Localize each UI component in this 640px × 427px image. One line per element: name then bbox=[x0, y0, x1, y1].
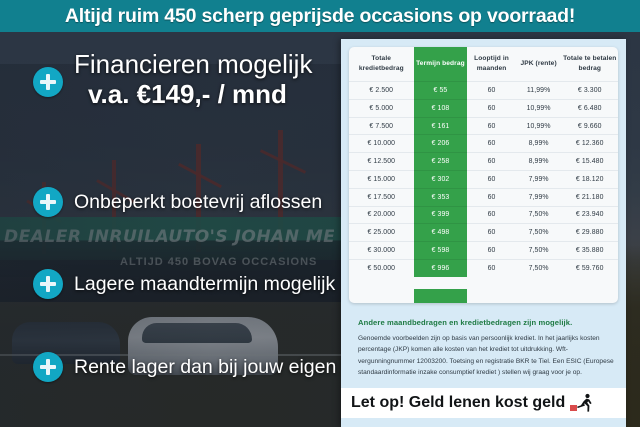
table-cell: € 9.660 bbox=[561, 117, 618, 135]
table-cell: 60 bbox=[467, 242, 515, 260]
table-cell: € 17.500 bbox=[349, 188, 414, 206]
credit-table-body: € 2.500€ 556011,99%€ 3.300€ 5.000€ 10860… bbox=[349, 82, 618, 277]
table-cell: 11,99% bbox=[516, 82, 562, 100]
table-cell: 7,50% bbox=[516, 224, 562, 242]
table-cell: 8,99% bbox=[516, 153, 562, 171]
table-cell: € 6.480 bbox=[561, 99, 618, 117]
table-cell: € 996 bbox=[414, 259, 468, 276]
table-cell: € 59.760 bbox=[561, 259, 618, 276]
col-header-total-payable: Totale te betalen bedrag bbox=[561, 47, 618, 82]
table-cell: 10,99% bbox=[516, 117, 562, 135]
table-cell: € 258 bbox=[414, 153, 468, 171]
table-cell: 60 bbox=[467, 99, 515, 117]
table-cell: 7,50% bbox=[516, 206, 562, 224]
legal-warning-footer: Let op! Geld lenen kost geld bbox=[341, 388, 626, 418]
table-row: € 2.500€ 556011,99%€ 3.300 bbox=[349, 82, 618, 100]
table-row: € 25.000€ 498607,50%€ 29.880 bbox=[349, 224, 618, 242]
table-cell: 7,99% bbox=[516, 171, 562, 189]
table-cell: € 161 bbox=[414, 117, 468, 135]
table-cell: € 498 bbox=[414, 224, 468, 242]
benefit-item-financing: Financieren mogelijk v.a. €149,- / mnd bbox=[33, 50, 312, 108]
table-row: € 30.000€ 598607,50%€ 35.880 bbox=[349, 242, 618, 260]
table-cell: 60 bbox=[467, 188, 515, 206]
highlight-column-tail bbox=[414, 289, 468, 303]
table-cell: 60 bbox=[467, 135, 515, 153]
table-cell: 60 bbox=[467, 206, 515, 224]
benefit-lower-installment-label: Lagere maandtermijn mogelijk bbox=[74, 273, 335, 296]
plus-icon bbox=[33, 269, 63, 299]
table-cell: € 399 bbox=[414, 206, 468, 224]
benefit-financing-line2: v.a. €149,- / mnd bbox=[88, 80, 312, 108]
table-cell: 7,50% bbox=[516, 242, 562, 260]
plus-icon bbox=[33, 187, 63, 217]
table-row: € 17.500€ 353607,99%€ 21.180 bbox=[349, 188, 618, 206]
table-row: € 10.000€ 206608,99%€ 12.360 bbox=[349, 135, 618, 153]
table-cell: € 12.360 bbox=[561, 135, 618, 153]
table-row: € 5.000€ 1086010,99%€ 6.480 bbox=[349, 99, 618, 117]
headline-bar: Altijd ruim 450 scherp geprijsde occasio… bbox=[0, 0, 640, 32]
note-body: Genoemde voorbeelden zijn op basis van p… bbox=[358, 333, 616, 378]
plus-icon bbox=[33, 352, 63, 382]
col-header-duration: Looptijd in maanden bbox=[467, 47, 515, 82]
table-cell: € 2.500 bbox=[349, 82, 414, 100]
table-cell: € 7.500 bbox=[349, 117, 414, 135]
benefit-item-lower-installment: Lagere maandtermijn mogelijk bbox=[33, 269, 335, 299]
table-cell: € 55 bbox=[414, 82, 468, 100]
table-row: € 50.000€ 996607,50%€ 59.760 bbox=[349, 259, 618, 276]
afm-running-man-icon bbox=[570, 393, 596, 413]
table-cell: € 12.500 bbox=[349, 153, 414, 171]
table-row: € 20.000€ 399607,50%€ 23.940 bbox=[349, 206, 618, 224]
col-header-total-credit: Totale kredietbedrag bbox=[349, 47, 414, 82]
benefits-list: Financieren mogelijk v.a. €149,- / mnd O… bbox=[0, 32, 350, 427]
table-cell: € 108 bbox=[414, 99, 468, 117]
table-cell: 60 bbox=[467, 224, 515, 242]
table-cell: € 15.480 bbox=[561, 153, 618, 171]
note-title: Andere maandbedragen en kredietbedragen … bbox=[358, 318, 620, 327]
table-cell: 7,50% bbox=[516, 259, 562, 276]
table-cell: 8,99% bbox=[516, 135, 562, 153]
table-cell: € 30.000 bbox=[349, 242, 414, 260]
credit-table-card: Totale kredietbedrag Termijn bedrag Loop… bbox=[349, 47, 618, 303]
table-cell: 10,99% bbox=[516, 99, 562, 117]
table-cell: € 302 bbox=[414, 171, 468, 189]
table-cell: € 206 bbox=[414, 135, 468, 153]
table-cell: € 20.000 bbox=[349, 206, 414, 224]
table-cell: € 35.880 bbox=[561, 242, 618, 260]
table-cell: 60 bbox=[467, 153, 515, 171]
table-cell: € 29.880 bbox=[561, 224, 618, 242]
table-cell: 60 bbox=[467, 259, 515, 276]
benefit-early-repayment-label: Onbeperkt boetevrij aflossen bbox=[74, 191, 322, 214]
benefit-financing-text: Financieren mogelijk v.a. €149,- / mnd bbox=[74, 50, 312, 108]
table-cell: € 50.000 bbox=[349, 259, 414, 276]
table-cell: € 598 bbox=[414, 242, 468, 260]
table-cell: € 5.000 bbox=[349, 99, 414, 117]
table-cell: € 23.940 bbox=[561, 206, 618, 224]
legal-warning-text: Let op! Geld lenen kost geld bbox=[351, 394, 565, 412]
table-row: € 7.500€ 1616010,99%€ 9.660 bbox=[349, 117, 618, 135]
table-cell: € 25.000 bbox=[349, 224, 414, 242]
table-cell: € 353 bbox=[414, 188, 468, 206]
table-cell: 60 bbox=[467, 117, 515, 135]
table-cell: € 10.000 bbox=[349, 135, 414, 153]
promo-banner: Altijd ruim 450 scherp geprijsde occasio… bbox=[0, 0, 640, 427]
benefit-financing-line1: Financieren mogelijk bbox=[74, 50, 312, 78]
credit-table: Totale kredietbedrag Termijn bedrag Loop… bbox=[349, 47, 618, 277]
table-cell: € 15.000 bbox=[349, 171, 414, 189]
col-header-jkp: JPK (rente) bbox=[516, 47, 562, 82]
table-row: € 12.500€ 258608,99%€ 15.480 bbox=[349, 153, 618, 171]
col-header-installment: Termijn bedrag bbox=[414, 47, 468, 82]
benefit-item-lower-rate: Rente lager dan bij jouw eigen bank bbox=[33, 352, 384, 382]
headline-text: Altijd ruim 450 scherp geprijsde occasio… bbox=[65, 5, 575, 28]
credit-table-head: Totale kredietbedrag Termijn bedrag Loop… bbox=[349, 47, 618, 82]
table-cell: € 18.120 bbox=[561, 171, 618, 189]
table-cell: € 21.180 bbox=[561, 188, 618, 206]
table-cell: € 3.300 bbox=[561, 82, 618, 100]
benefit-item-early-repayment: Onbeperkt boetevrij aflossen bbox=[33, 187, 322, 217]
table-cell: 7,99% bbox=[516, 188, 562, 206]
table-header-row: Totale kredietbedrag Termijn bedrag Loop… bbox=[349, 47, 618, 82]
table-cell: 60 bbox=[467, 171, 515, 189]
table-cell: 60 bbox=[467, 82, 515, 100]
plus-icon bbox=[33, 67, 63, 97]
table-row: € 15.000€ 302607,99%€ 18.120 bbox=[349, 171, 618, 189]
benefit-lower-rate-label: Rente lager dan bij jouw eigen bank bbox=[74, 356, 384, 379]
